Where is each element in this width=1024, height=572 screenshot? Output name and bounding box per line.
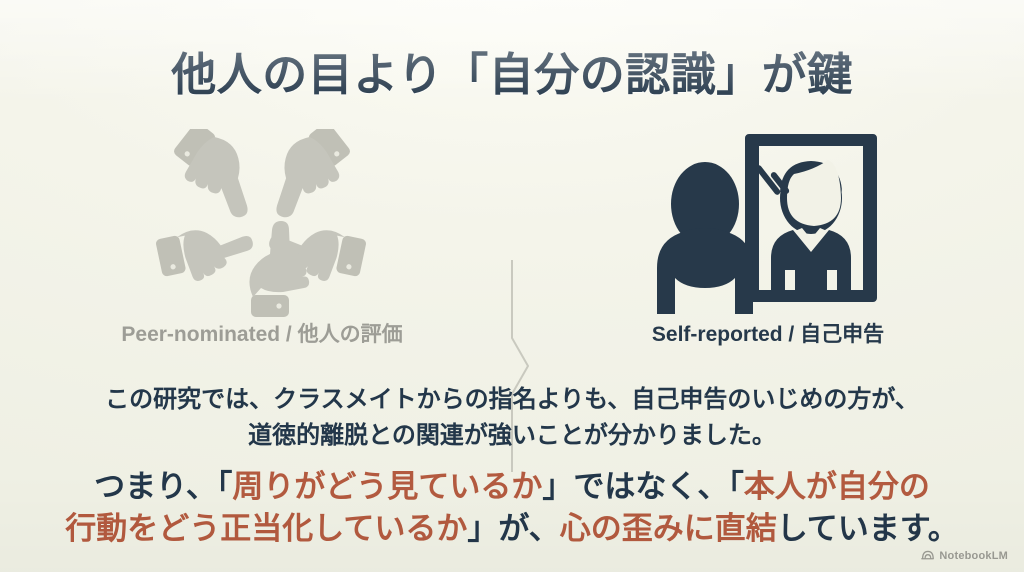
body-line-2: 道徳的離脱との関連が強いことが分かりました。 <box>0 418 1024 454</box>
self-reported-label: Self-reported / 自己申告 <box>548 318 988 348</box>
slide-canvas: 他人の目より「自分の認識」が鍵 <box>0 0 1024 572</box>
body-line-1: この研究では、クラスメイトからの指名よりも、自己申告のいじめの方が、 <box>0 382 1024 418</box>
person-facing-mirror-icon <box>653 128 883 318</box>
text-run-1: 」が、 <box>467 511 559 546</box>
text-run-0: つまり、「 <box>94 469 232 504</box>
conclusion-text: つまり、「周りがどう見ているか」ではなく、「本人が自分の 行動をどう正当化してい… <box>0 466 1024 550</box>
peer-hands-icon-box <box>42 128 482 318</box>
page-title: 他人の目より「自分の認識」が鍵 <box>0 38 1024 103</box>
watermark-label: NotebookLM <box>939 550 1008 562</box>
comparison-column-self: Self-reported / 自己申告 <box>548 128 988 363</box>
text-run-3: しています。 <box>777 511 959 546</box>
notebooklm-spiral-icon <box>921 549 934 562</box>
comparison-column-peer: Peer-nominated / 他人の評価 <box>42 128 482 363</box>
text-run-2: 」ではなく、「 <box>542 469 744 504</box>
body-paragraph: この研究では、クラスメイトからの指名よりも、自己申告のいじめの方が、 道徳的離脱… <box>0 382 1024 454</box>
conclusion-line-1: つまり、「周りがどう見ているか」ではなく、「本人が自分の <box>0 466 1024 508</box>
comparison-section: Peer-nominated / 他人の評価 <box>0 128 1024 363</box>
text-run-2: 心の歪みに直結 <box>560 511 777 546</box>
mirror-icon-box <box>548 128 988 318</box>
text-run-0: 行動をどう正当化しているか <box>65 511 467 546</box>
notebooklm-watermark: NotebookLM <box>921 549 1008 562</box>
text-run-3: 本人が自分の <box>744 469 930 504</box>
peer-nominated-label: Peer-nominated / 他人の評価 <box>42 318 482 348</box>
conclusion-line-2: 行動をどう正当化しているか」が、心の歪みに直結しています。 <box>0 508 1024 550</box>
text-run-1: 周りがどう見ているか <box>232 469 542 504</box>
five-pointing-hands-icon <box>147 129 377 317</box>
